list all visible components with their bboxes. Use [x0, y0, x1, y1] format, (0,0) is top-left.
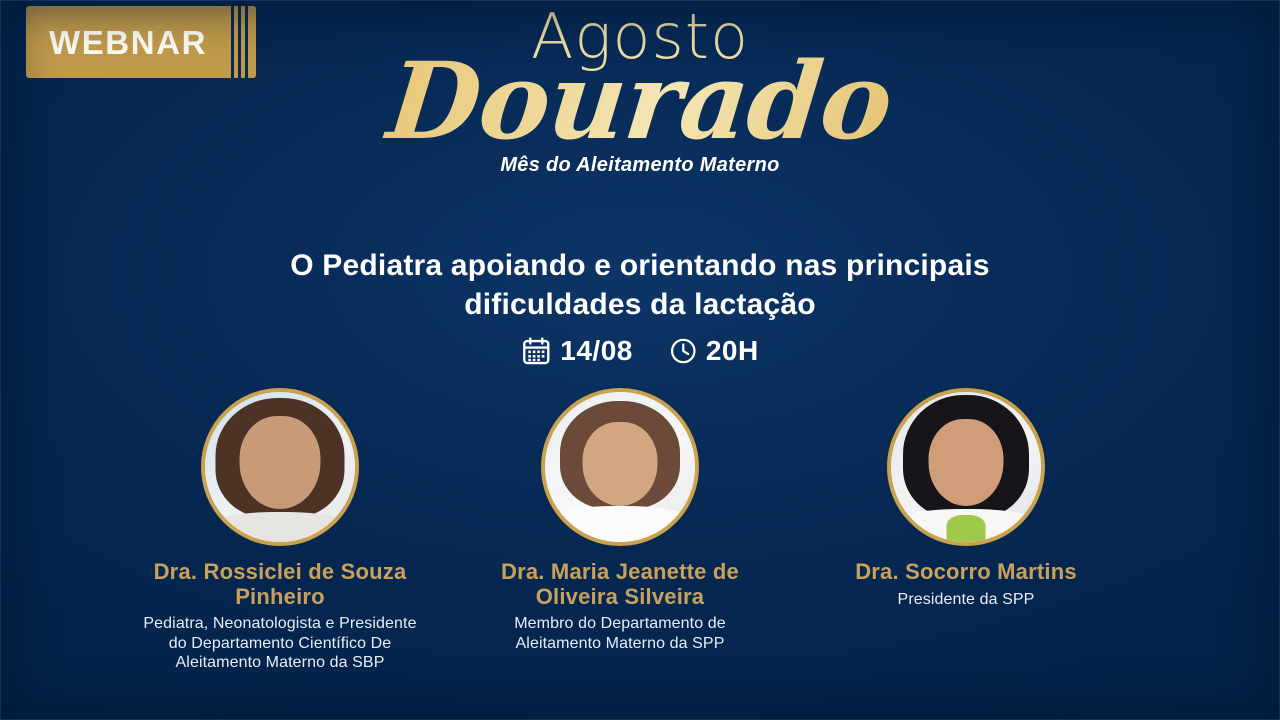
hero-lockup: Agosto Dourado Mês do Aleitamento Matern… [0, 8, 1280, 177]
avatar-image [545, 392, 695, 542]
speakers-row: Dra. Rossiclei de Souza Pinheiro Pediatr… [0, 388, 1280, 673]
event-date-text: 14/08 [560, 337, 633, 365]
speaker-photo-socorro [887, 388, 1045, 546]
speaker-card: Dra. Socorro Martins Presidente da SPP [796, 388, 1136, 673]
speaker-description: Presidente da SPP [898, 590, 1035, 610]
event-meta-row: 14/08 20H [521, 336, 758, 366]
hero-title-dourado: Dourado [0, 45, 1280, 156]
avatar-image [205, 392, 355, 542]
speaker-name: Dra. Socorro Martins [855, 560, 1077, 585]
speaker-photo-maria-jeanette [541, 388, 699, 546]
speaker-name: Dra. Rossiclei de Souza Pinheiro [130, 560, 430, 609]
speaker-card: Dra. Rossiclei de Souza Pinheiro Pediatr… [110, 388, 450, 673]
event-time-text: 20H [706, 337, 759, 365]
event-time: 20H [669, 337, 759, 365]
avatar-torso [202, 512, 358, 546]
avatar-accent [947, 515, 986, 542]
speaker-photo-rossiclei [201, 388, 359, 546]
avatar-face [929, 419, 1004, 506]
calendar-icon [521, 336, 551, 366]
clock-icon [669, 337, 697, 365]
avatar-image [891, 392, 1041, 542]
avatar-torso [541, 506, 699, 546]
speaker-description: Membro do Departamento de Aleitamento Ma… [475, 614, 765, 653]
avatar-face [583, 422, 658, 506]
event-date: 14/08 [521, 336, 633, 366]
speaker-name: Dra. Maria Jeanette de Oliveira Silveira [470, 560, 770, 609]
speaker-card: Dra. Maria Jeanette de Oliveira Silveira… [450, 388, 790, 673]
speaker-description: Pediatra, Neonatologista e Presidente do… [135, 614, 425, 673]
avatar-face [240, 416, 321, 509]
talk-title: O Pediatra apoiando e orientando nas pri… [210, 246, 1070, 324]
